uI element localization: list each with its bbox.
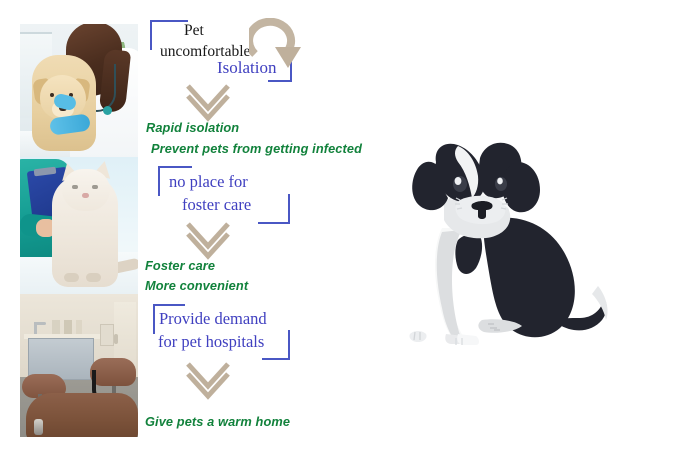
flow-column: Pet uncomfortable Isolation Rapid isolat… (144, 0, 394, 458)
problem-label-2b: foster care (182, 194, 251, 215)
photo-vet-examining-dog (20, 24, 138, 157)
problem-label-3b: for pet hospitals (158, 331, 264, 352)
solution-label-1b: Prevent pets from getting infected (151, 141, 362, 156)
solution-label-2b: More convenient (145, 278, 248, 293)
solution-label-1a: Rapid isolation (146, 120, 239, 135)
bracket-bottom-right-3 (262, 330, 290, 360)
photo-white-cat-with-vet (20, 157, 138, 294)
dog-svg (398, 128, 658, 358)
chevron-down-icon-3 (185, 362, 231, 400)
circular-arrow-icon (249, 18, 303, 70)
photo-clinic-room (20, 294, 138, 437)
problem-label-2a: no place for (169, 171, 248, 192)
sitting-dog-illustration (398, 128, 658, 358)
problem-label-1a: Pet (184, 20, 204, 41)
solution-label-2a: Foster care (145, 258, 215, 273)
chevron-down-icon-2 (185, 222, 231, 260)
bracket-bottom-right-2 (258, 194, 290, 224)
chevron-down-icon-1 (185, 84, 231, 122)
solution-label-3a: Give pets a warm home (145, 414, 290, 429)
problem-label-3a: Provide demand (159, 308, 267, 329)
page-canvas: Pet uncomfortable Isolation Rapid isolat… (0, 0, 675, 458)
